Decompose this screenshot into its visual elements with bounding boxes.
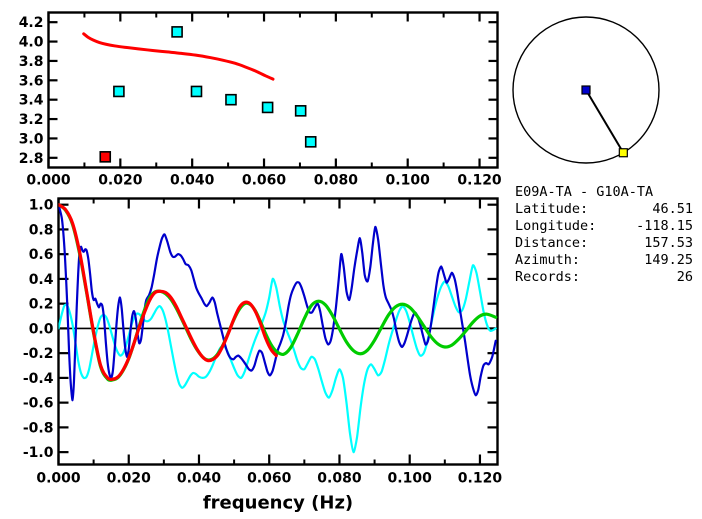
x-tick-label: 0.120 — [457, 173, 502, 189]
x-tick-label: 0.100 — [388, 471, 433, 487]
y-tick-label: 3.4 — [19, 93, 44, 109]
y-tick-label: 0.8 — [29, 222, 54, 238]
data-point-marker — [191, 86, 201, 96]
y-tick-label: 3.8 — [19, 54, 44, 70]
station-endpoint-marker — [619, 149, 627, 157]
x-tick-label: 0.020 — [98, 173, 143, 189]
x-tick-label: 0.000 — [36, 471, 81, 487]
info-row-label: Azimuth: — [515, 252, 580, 268]
y-tick-label: 0.0 — [29, 321, 54, 337]
y-tick-label: 4.0 — [19, 35, 44, 51]
info-row-value: 46.51 — [652, 201, 693, 217]
info-row-value: 149.25 — [644, 252, 693, 268]
x-tick-label: 0.080 — [314, 173, 359, 189]
data-point-marker — [100, 152, 110, 162]
y-tick-label: 3.0 — [19, 131, 44, 147]
data-point-marker — [296, 106, 306, 116]
y-tick-label: 2.8 — [19, 151, 44, 167]
x-tick-label: 0.040 — [170, 173, 215, 189]
x-tick-label: 0.060 — [247, 471, 292, 487]
x-tick-label: 0.080 — [317, 471, 362, 487]
y-tick-label: -0.4 — [23, 371, 54, 387]
y-tick-label: 0.4 — [29, 272, 54, 288]
data-point-marker — [226, 95, 236, 105]
x-tick-label: 0.100 — [386, 173, 431, 189]
x-axis-label: frequency (Hz) — [203, 493, 353, 514]
y-tick-label: -0.8 — [23, 420, 54, 436]
x-tick-label: 0.020 — [107, 471, 152, 487]
figure-canvas: 0.0000.0200.0400.0600.0800.1000.1202.83.… — [0, 0, 702, 519]
data-point-marker — [114, 86, 124, 96]
y-tick-label: 4.2 — [19, 15, 44, 31]
station-center-marker — [582, 86, 590, 94]
y-tick-label: 3.2 — [19, 112, 44, 128]
station-pair-title: E09A-TA - G10A-TA — [515, 184, 653, 200]
y-tick-label: -0.6 — [23, 396, 54, 412]
y-tick-label: -0.2 — [23, 346, 54, 362]
info-row-value: 157.53 — [644, 235, 693, 251]
info-row-value: 26 — [677, 269, 693, 285]
info-row-label: Latitude: — [515, 201, 588, 217]
data-point-marker — [172, 27, 182, 37]
plot-page: 0.0000.0200.0400.0600.0800.1000.1202.83.… — [0, 0, 702, 519]
x-tick-label: 0.000 — [26, 173, 71, 189]
y-tick-label: 3.6 — [19, 73, 44, 89]
x-tick-label: 0.120 — [458, 471, 503, 487]
y-tick-label: 1.0 — [29, 198, 54, 214]
info-row-value: -118.15 — [636, 218, 693, 234]
data-point-marker — [263, 102, 273, 112]
x-tick-label: 0.040 — [177, 471, 222, 487]
y-tick-label: -1.0 — [23, 445, 54, 461]
info-row-label: Records: — [515, 269, 580, 285]
y-tick-label: 0.2 — [29, 297, 54, 313]
y-tick-label: 0.6 — [29, 247, 54, 263]
x-tick-label: 0.060 — [242, 173, 287, 189]
data-point-marker — [306, 137, 316, 147]
info-row-label: Longitude: — [515, 218, 596, 234]
info-row-label: Distance: — [515, 235, 588, 251]
